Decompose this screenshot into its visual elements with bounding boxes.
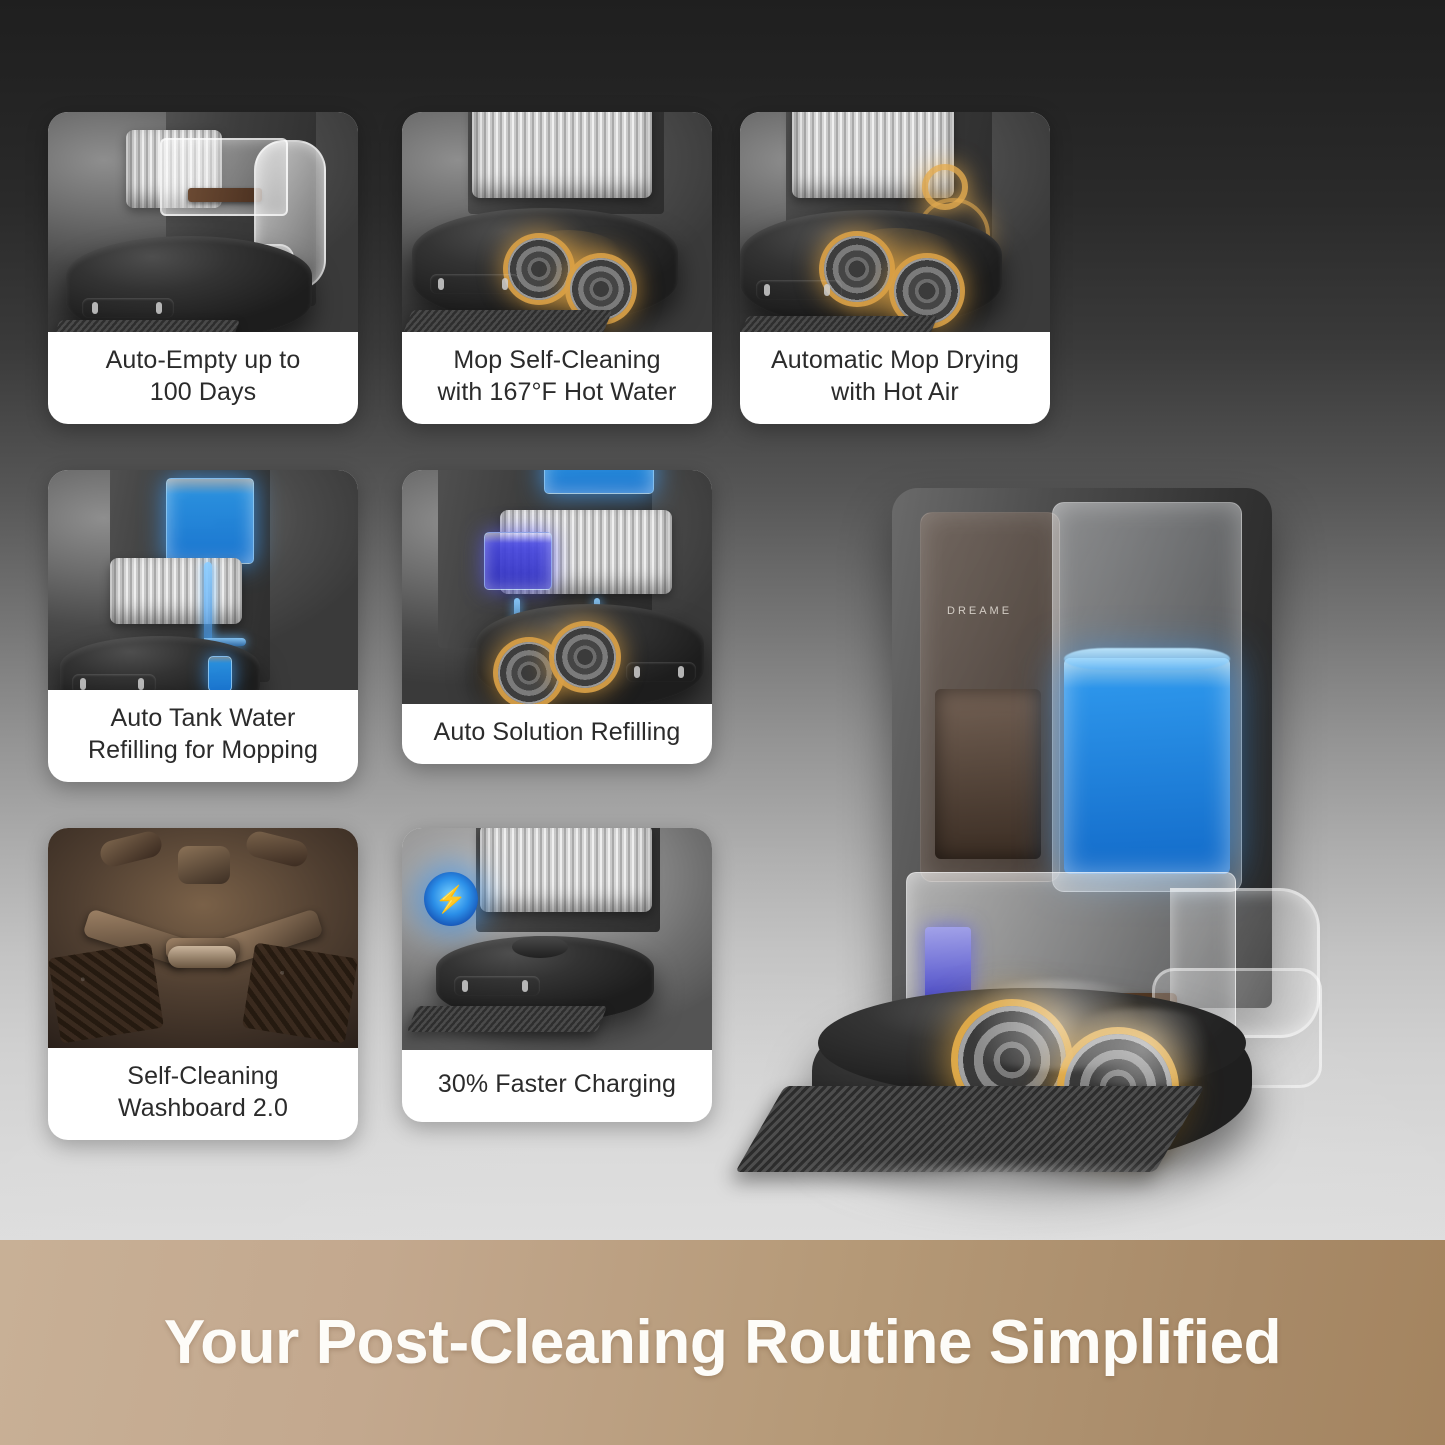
- feature-image-mop-self-cleaning: [402, 112, 712, 332]
- feature-image-mop-drying: [740, 112, 1050, 332]
- feature-image-washboard: [48, 828, 358, 1048]
- banner-headline: Your Post-Cleaning Routine Simplified: [164, 1307, 1281, 1378]
- feature-card-grid: Auto-Empty up to 100 Days: [48, 112, 712, 1140]
- feature-caption-washboard: Self-Cleaning Washboard 2.0: [48, 1048, 358, 1140]
- page-canvas: Auto-Empty up to 100 Days: [0, 0, 1445, 1445]
- feature-card-auto-empty[interactable]: Auto-Empty up to 100 Days: [48, 112, 358, 424]
- brand-label: DREAME: [947, 605, 1012, 617]
- feature-card-tank-refill[interactable]: Auto Tank Water Refilling for Mopping: [48, 470, 358, 782]
- feature-caption-auto-empty: Auto-Empty up to 100 Days: [48, 332, 358, 424]
- steam-wisp-2: [1052, 1008, 1232, 1088]
- hero-product-render: DREAME: [752, 468, 1392, 1228]
- dust-tank: DREAME: [920, 512, 1060, 882]
- feature-image-solution-refill: [402, 470, 712, 704]
- feature-card-mop-drying[interactable]: Automatic Mop Drying with Hot Air: [740, 112, 1050, 424]
- feature-caption-mop-drying: Automatic Mop Drying with Hot Air: [740, 332, 1050, 424]
- feature-caption-mop-self-cleaning: Mop Self-Cleaning with 167°F Hot Water: [402, 332, 712, 424]
- charging-bolt-icon: ⚡: [424, 872, 478, 926]
- feature-image-tank-refill: [48, 470, 358, 690]
- feature-caption-solution-refill: Auto Solution Refilling: [402, 704, 712, 764]
- feature-image-auto-empty: [48, 112, 358, 332]
- feature-card-mop-self-cleaning[interactable]: Mop Self-Cleaning with 167°F Hot Water: [402, 112, 712, 424]
- grid-row-gap-2: [48, 782, 712, 828]
- clean-water-tank-fill: [1064, 658, 1230, 874]
- feature-caption-faster-charging: 30% Faster Charging: [402, 1050, 712, 1122]
- feature-card-faster-charging[interactable]: ⚡ 30% Faster Charging: [402, 828, 712, 1122]
- feature-card-washboard[interactable]: Self-Cleaning Washboard 2.0: [48, 828, 358, 1140]
- feature-card-solution-refill[interactable]: Auto Solution Refilling: [402, 470, 712, 764]
- dust-tank-contents: [935, 689, 1041, 859]
- grid-row-gap-1: [48, 424, 712, 470]
- hero-ramp-mat: [735, 1086, 1205, 1172]
- bottom-banner: Your Post-Cleaning Routine Simplified: [0, 1240, 1445, 1445]
- feature-caption-tank-refill: Auto Tank Water Refilling for Mopping: [48, 690, 358, 782]
- feature-image-faster-charging: ⚡: [402, 828, 712, 1050]
